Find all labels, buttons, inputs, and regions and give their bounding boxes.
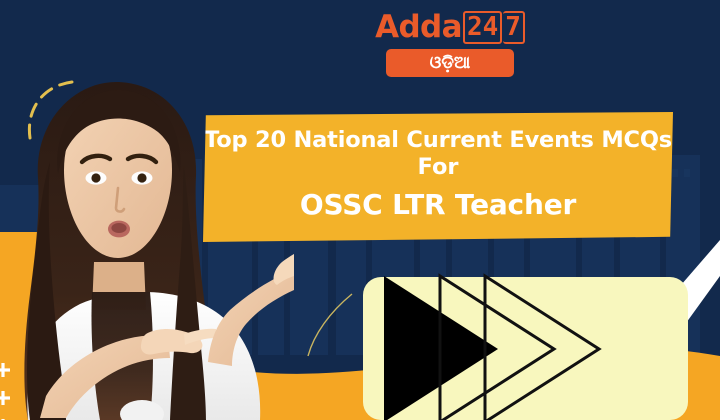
language-badge: ଓଡ଼ିଆ bbox=[386, 49, 514, 77]
logo-wordmark: Adda 24 7 bbox=[370, 10, 530, 44]
thin-curve-icon bbox=[300, 288, 360, 360]
logo-word: Adda bbox=[375, 12, 462, 43]
language-badge-label: ଓଡ଼ିଆ bbox=[430, 55, 471, 72]
play-triangles-icon[interactable] bbox=[380, 270, 640, 420]
title-banner: Top 20 National Current Events MCQs For … bbox=[203, 112, 673, 242]
title-line-2: For bbox=[417, 153, 458, 182]
adda247-logo[interactable]: Adda 24 7 ଓଡ଼ିଆ bbox=[370, 10, 530, 77]
thumbnail-canvas: Top 20 National Current Events MCQs For … bbox=[0, 0, 720, 420]
title-line-3: OSSC LTR Teacher bbox=[300, 186, 576, 224]
logo-digits-24: 24 bbox=[463, 11, 502, 44]
logo-digits-7: 7 bbox=[503, 11, 525, 44]
title-line-1: Top 20 National Current Events MCQs bbox=[204, 127, 672, 154]
dashed-arc-icon bbox=[22, 76, 92, 146]
